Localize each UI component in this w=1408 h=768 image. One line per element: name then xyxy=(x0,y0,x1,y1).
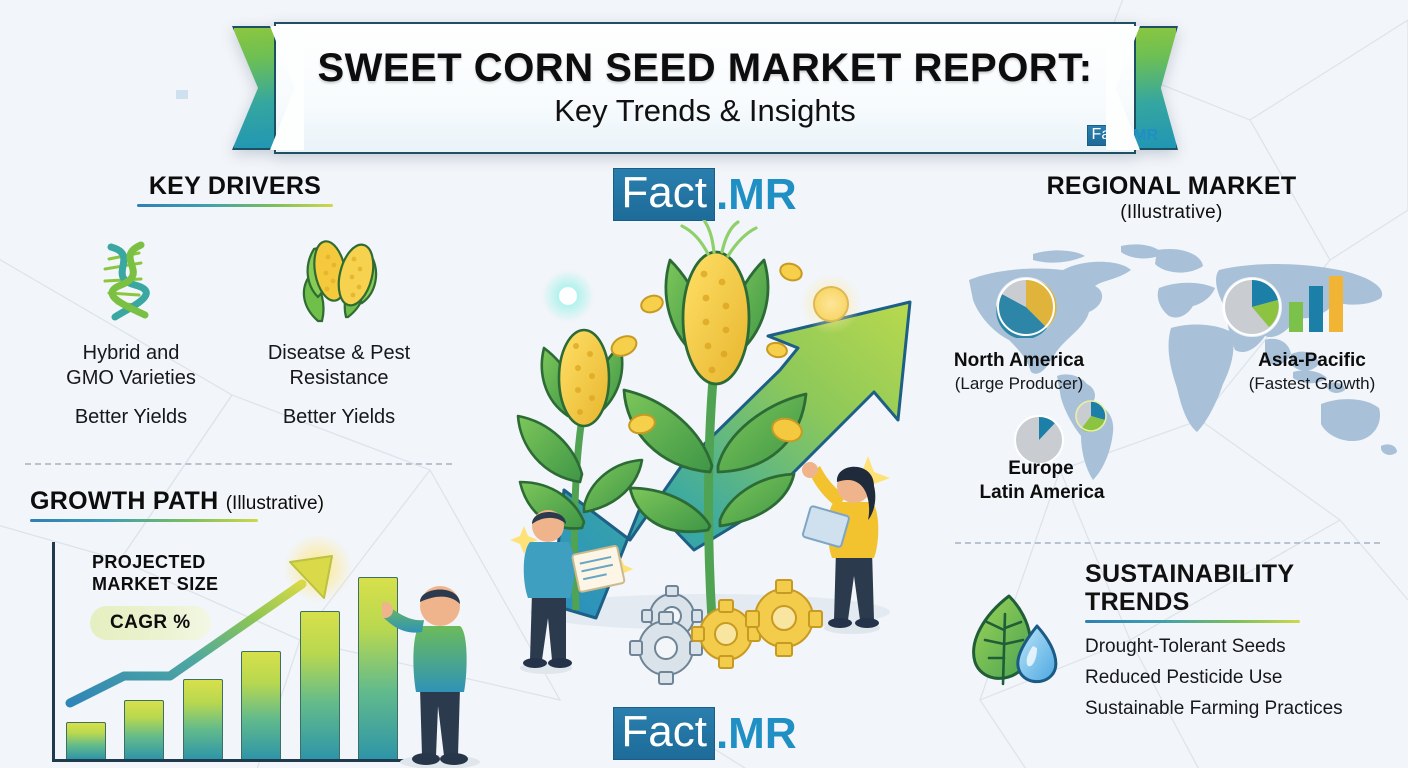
center-column: Fact.MR xyxy=(470,160,940,768)
bar-2 xyxy=(124,700,164,759)
key-driver-title-line2: Resistance xyxy=(244,366,434,391)
north-america-pie-chart xyxy=(995,276,1057,338)
leaf-water-drop-icon xyxy=(965,588,1069,697)
cagr-badge: CAGR % xyxy=(90,606,211,640)
growth-path-heading-note: (Illustrative) xyxy=(226,493,324,514)
growth-path-underline xyxy=(30,519,258,522)
right-column: REGIONAL MARKET (Illustrative) xyxy=(935,160,1408,768)
dna-helix-icon xyxy=(36,229,226,333)
region-label-north-america: North America (Large Producer) xyxy=(929,350,1109,394)
asia-pacific-pie-chart xyxy=(1221,276,1283,338)
banner-body: SWEET CORN SEED MARKET REPORT: Key Trend… xyxy=(274,22,1136,154)
region-label-latin-america: Latin America xyxy=(957,482,1127,505)
key-drivers-underline xyxy=(137,204,333,207)
brand-name-box: Fact xyxy=(613,707,715,760)
list-item: Reduced Pesticide Use xyxy=(1085,663,1343,694)
left-column: KEY DRIVERS Hybrid and GMO Varieties Bet… xyxy=(0,160,470,768)
key-driver-title-line2: GMO Varieties xyxy=(36,366,226,391)
key-driver-benefit: Better Yields xyxy=(36,406,226,429)
region-label-asia-pacific: Asia-Pacific (Fastest Growth) xyxy=(1212,350,1408,394)
chart-projected-label: PROJECTED MARKET SIZE xyxy=(92,552,218,596)
sustainability-section: SUSTAINABILITY TRENDS Drought-Tolerant S… xyxy=(935,544,1408,724)
regional-market-heading-note: (Illustrative) xyxy=(935,202,1408,224)
brand-name-box: Fact xyxy=(613,168,715,221)
bar-4 xyxy=(241,651,281,760)
key-drivers-heading: KEY DRIVERS xyxy=(0,172,470,201)
latin-america-pie-chart xyxy=(1075,400,1107,432)
key-drivers-list: Hybrid and GMO Varieties Better Yields xyxy=(0,229,470,429)
page-title: SWEET CORN SEED MARKET REPORT: xyxy=(317,47,1092,89)
hero-corn-growth-illustration xyxy=(480,220,930,690)
sustainability-list: Drought-Tolerant Seeds Reduced Pesticide… xyxy=(1085,632,1343,724)
regional-market-heading: REGIONAL MARKET xyxy=(935,172,1408,201)
growth-path-heading: GROWTH PATH xyxy=(30,487,218,515)
sustainability-heading: SUSTAINABILITY TRENDS xyxy=(1085,560,1343,616)
brand-name-suffix: .MR xyxy=(716,173,797,217)
key-driver-title-line1: Hybrid and xyxy=(36,341,226,366)
key-driver-item-disease-pest: Diseatse & Pest Resistance Better Yields xyxy=(244,229,434,429)
regional-market-map: North America (Large Producer) Asia-Paci… xyxy=(935,236,1408,506)
asia-pacific-bar-chart xyxy=(1287,274,1347,332)
corn-cob-icon xyxy=(244,229,434,333)
key-driver-benefit: Better Yields xyxy=(244,406,434,429)
list-item: Sustainable Farming Practices xyxy=(1085,694,1343,725)
sustainability-underline xyxy=(1085,620,1300,623)
header-banner: SWEET CORN SEED MARKET REPORT: Key Trend… xyxy=(232,22,1178,154)
sustainability-text-block: SUSTAINABILITY TRENDS Drought-Tolerant S… xyxy=(1085,560,1343,724)
bar-3 xyxy=(183,679,223,759)
brand-name-suffix: .MR xyxy=(716,712,797,756)
growth-path-chart: PROJECTED MARKET SIZE CAGR % xyxy=(52,536,462,768)
left-column-divider xyxy=(25,463,452,465)
list-item: Drought-Tolerant Seeds xyxy=(1085,632,1343,663)
key-driver-title-line1: Diseatse & Pest xyxy=(244,341,434,366)
center-brand-logo-top: Fact.MR xyxy=(470,168,940,221)
page-subtitle: Key Trends & Insights xyxy=(554,93,856,129)
key-driver-item-hybrid-gmo: Hybrid and GMO Varieties Better Yields xyxy=(36,229,226,429)
bar-5 xyxy=(300,611,340,759)
bar-1 xyxy=(66,722,106,759)
center-brand-logo-bottom: Fact.MR xyxy=(470,707,940,760)
region-label-europe: Europe xyxy=(981,458,1101,481)
